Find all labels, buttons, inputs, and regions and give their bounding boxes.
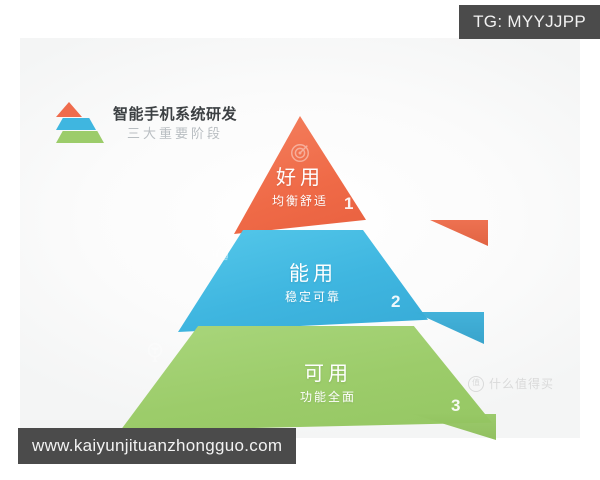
pyramid-diagram: 好用 均衡舒适 1 能用 稳定可靠: [120, 108, 520, 443]
smzdm-watermark: 值 什么值得买: [468, 375, 554, 392]
smzdm-logo-icon: 值: [468, 376, 484, 392]
url-badge: www.kaiyunjituanzhongguo.com: [18, 428, 296, 464]
tier-2-rank: 2: [391, 292, 400, 312]
smzdm-watermark-text: 什么值得买: [489, 375, 554, 392]
tier-1-rank: 1: [344, 194, 353, 214]
pyramid-tier-1[interactable]: 好用 均衡舒适 1: [234, 116, 366, 234]
logo-tier-middle: [56, 118, 96, 130]
logo-tier-top: [56, 102, 82, 117]
tg-badge: TG: MYYJJPP: [459, 5, 600, 39]
crown-icon: [209, 242, 231, 264]
target-icon: [289, 142, 311, 164]
seedling-icon: [144, 342, 166, 364]
tier-1-shape: [234, 116, 366, 234]
slide-canvas: 智能手机系统研发 三大重要阶段 好用 均衡舒适: [20, 38, 580, 438]
slide-stage: 智能手机系统研发 三大重要阶段 好用 均衡舒适: [0, 0, 600, 480]
tier-1-fold: [430, 220, 488, 246]
pyramid-tier-3[interactable]: 可用 功能全面 3: [120, 326, 492, 431]
pyramid-tier-2[interactable]: 能用 稳定可靠 2: [178, 230, 428, 332]
tier-3-rank: 3: [451, 396, 460, 416]
logo-tier-bottom: [56, 131, 104, 143]
tier-3-fold: [412, 414, 496, 440]
pyramid-logo-icon: [56, 102, 104, 146]
